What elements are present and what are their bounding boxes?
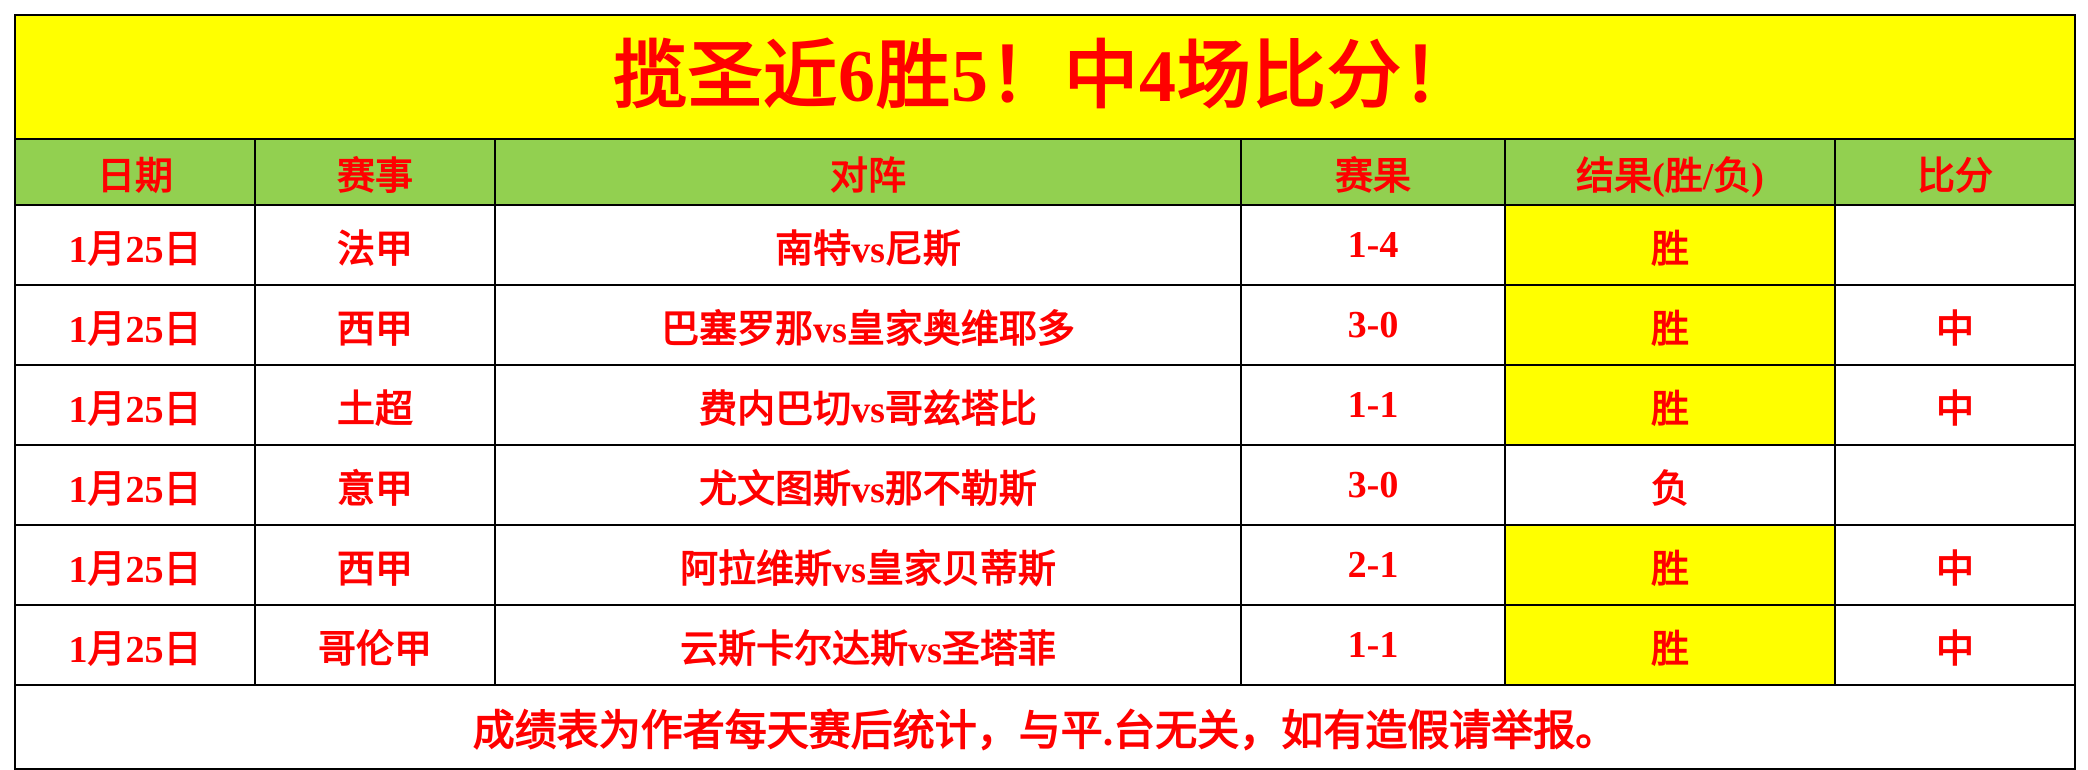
cell-league: 意甲 (255, 445, 495, 525)
column-header-hit: 比分 (1835, 139, 2075, 205)
column-header-date: 日期 (15, 139, 255, 205)
column-header-match: 对阵 (495, 139, 1241, 205)
table-header-row: 日期 赛事 对阵 赛果 结果(胜/负) 比分 (15, 139, 2075, 205)
cell-score: 3-0 (1241, 445, 1505, 525)
cell-match: 云斯卡尔达斯vs圣塔菲 (495, 605, 1241, 685)
cell-result: 胜 (1505, 365, 1835, 445)
match-results-table: 揽圣近6胜5！中4场比分！ 日期 赛事 对阵 赛果 结果(胜/负) 比分 1月2… (14, 14, 2076, 770)
cell-league: 土超 (255, 365, 495, 445)
table-row: 1月25日 哥伦甲 云斯卡尔达斯vs圣塔菲 1-1 胜 中 (15, 605, 2075, 685)
cell-date: 1月25日 (15, 365, 255, 445)
cell-match: 南特vs尼斯 (495, 205, 1241, 285)
cell-result: 胜 (1505, 605, 1835, 685)
table-row: 1月25日 西甲 巴塞罗那vs皇家奥维耶多 3-0 胜 中 (15, 285, 2075, 365)
cell-league: 法甲 (255, 205, 495, 285)
cell-score: 1-1 (1241, 365, 1505, 445)
cell-match: 阿拉维斯vs皇家贝蒂斯 (495, 525, 1241, 605)
column-header-league: 赛事 (255, 139, 495, 205)
table-row: 1月25日 西甲 阿拉维斯vs皇家贝蒂斯 2-1 胜 中 (15, 525, 2075, 605)
disclaimer-note: 成绩表为作者每天赛后统计，与平.台无关，如有造假请举报。 (15, 685, 2075, 769)
cell-date: 1月25日 (15, 205, 255, 285)
column-header-result: 结果(胜/负) (1505, 139, 1835, 205)
table-row: 1月25日 法甲 南特vs尼斯 1-4 胜 (15, 205, 2075, 285)
title-row: 揽圣近6胜5！中4场比分！ (15, 15, 2075, 139)
cell-result: 负 (1505, 445, 1835, 525)
table-row: 1月25日 土超 费内巴切vs哥兹塔比 1-1 胜 中 (15, 365, 2075, 445)
page-title: 揽圣近6胜5！中4场比分！ (15, 15, 2075, 139)
cell-score: 1-1 (1241, 605, 1505, 685)
column-header-score: 赛果 (1241, 139, 1505, 205)
cell-match: 尤文图斯vs那不勒斯 (495, 445, 1241, 525)
table-row: 1月25日 意甲 尤文图斯vs那不勒斯 3-0 负 (15, 445, 2075, 525)
cell-league: 西甲 (255, 285, 495, 365)
cell-date: 1月25日 (15, 525, 255, 605)
cell-league: 哥伦甲 (255, 605, 495, 685)
cell-match: 费内巴切vs哥兹塔比 (495, 365, 1241, 445)
cell-result: 胜 (1505, 285, 1835, 365)
cell-date: 1月25日 (15, 445, 255, 525)
cell-hit: 中 (1835, 365, 2075, 445)
cell-result: 胜 (1505, 525, 1835, 605)
cell-match: 巴塞罗那vs皇家奥维耶多 (495, 285, 1241, 365)
cell-score: 3-0 (1241, 285, 1505, 365)
footer-row: 成绩表为作者每天赛后统计，与平.台无关，如有造假请举报。 (15, 685, 2075, 769)
cell-hit: 中 (1835, 285, 2075, 365)
cell-score: 2-1 (1241, 525, 1505, 605)
cell-league: 西甲 (255, 525, 495, 605)
results-sheet: 揽圣近6胜5！中4场比分！ 日期 赛事 对阵 赛果 结果(胜/负) 比分 1月2… (14, 14, 2074, 770)
cell-hit (1835, 205, 2075, 285)
cell-hit (1835, 445, 2075, 525)
cell-date: 1月25日 (15, 605, 255, 685)
cell-hit: 中 (1835, 525, 2075, 605)
cell-result: 胜 (1505, 205, 1835, 285)
cell-hit: 中 (1835, 605, 2075, 685)
cell-date: 1月25日 (15, 285, 255, 365)
cell-score: 1-4 (1241, 205, 1505, 285)
